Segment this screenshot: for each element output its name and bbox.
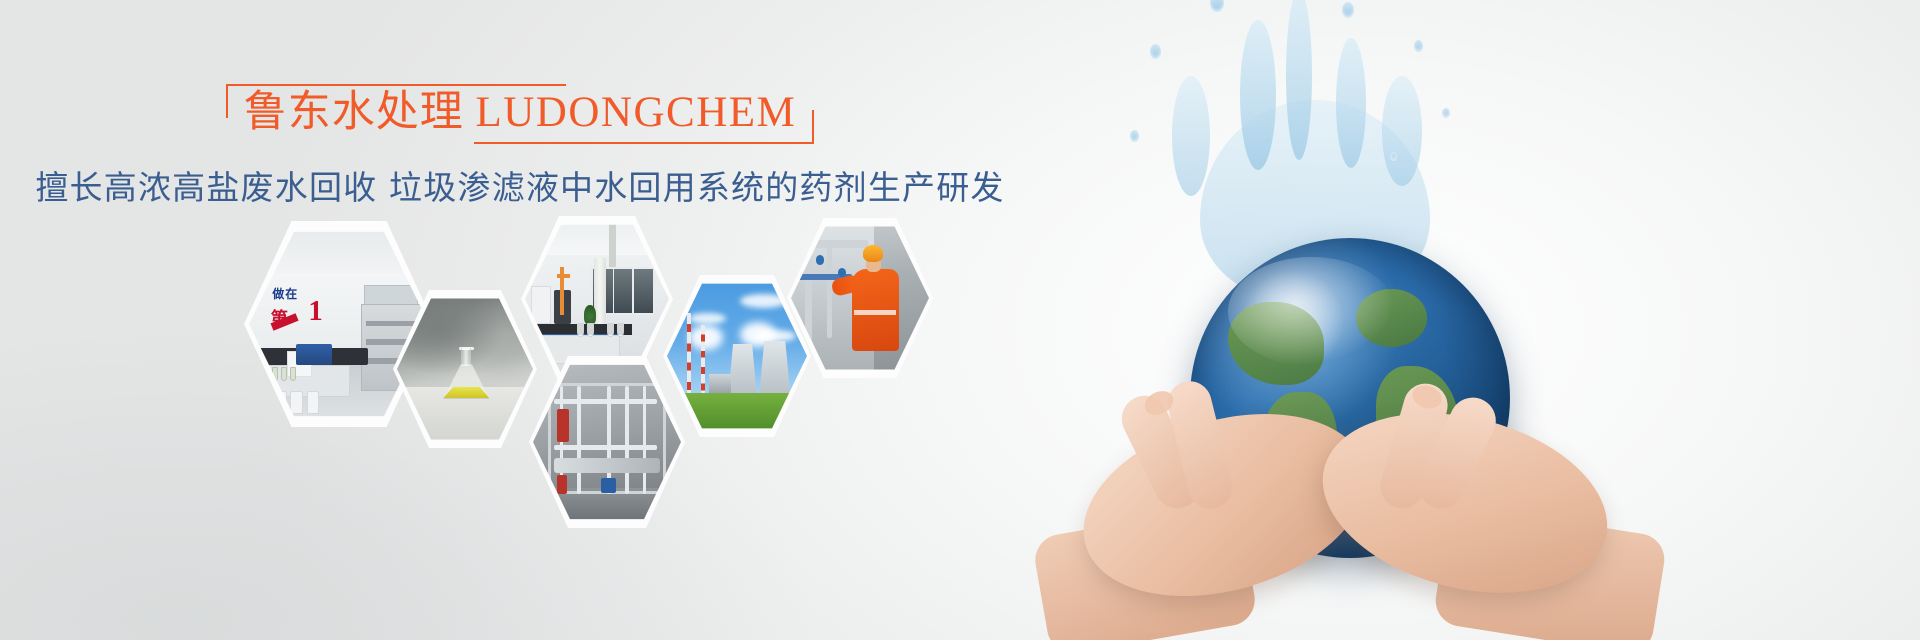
wall-slogan-blue: 做在 bbox=[272, 285, 298, 302]
banner-text-block: 鲁东水处理 LUDONGCHEM 擅长高浓高盐废水回收 垃圾渗滤液中水回用系统的… bbox=[0, 84, 1040, 209]
wall-slogan-red: 第 bbox=[271, 304, 288, 329]
bracket-left-line bbox=[226, 84, 228, 118]
water-globe-artwork bbox=[1020, 0, 1920, 640]
hero-banner: 鲁东水处理 LUDONGCHEM 擅长高浓高盐废水回收 垃圾渗滤液中水回用系统的… bbox=[0, 0, 1920, 640]
brand-title-en: LUDONGCHEM bbox=[475, 89, 796, 136]
brand-title-cn: 鲁东水处理 bbox=[244, 89, 464, 136]
bracket-right-line bbox=[812, 110, 814, 144]
banner-subtitle: 擅长高浓高盐废水回收 垃圾渗滤液中水回用系统的药剂生产研发 bbox=[0, 161, 1040, 209]
page-title: 鲁东水处理 LUDONGCHEM bbox=[244, 90, 797, 136]
bracket-bottom-line bbox=[474, 142, 814, 144]
bracket-top-line bbox=[226, 84, 566, 86]
brand-title-frame: 鲁东水处理 LUDONGCHEM bbox=[226, 84, 815, 144]
wall-slogan-number: 1 bbox=[308, 297, 322, 326]
